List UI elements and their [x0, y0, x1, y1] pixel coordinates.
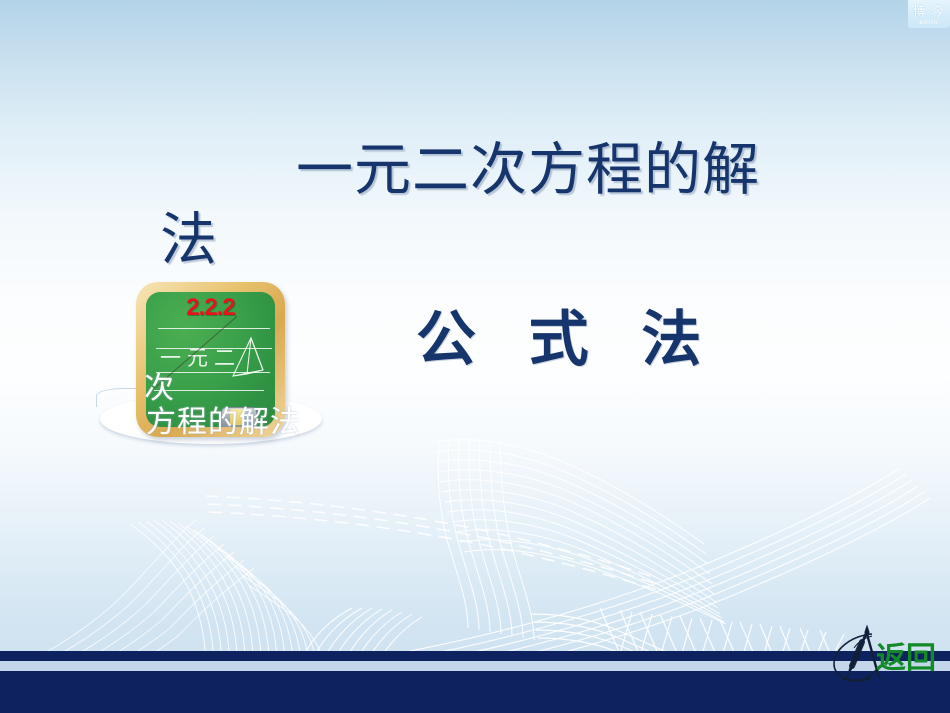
- page-title-line-1: 一元二次方程的解: [296, 142, 760, 199]
- return-button-label: 返回: [876, 644, 936, 674]
- footer-band-navy-upper: [0, 651, 950, 661]
- page-title-line-2: 法: [160, 212, 218, 269]
- pyramid-shape-icon: [227, 336, 269, 382]
- return-button[interactable]: 返回: [828, 624, 940, 688]
- page-subtitle: 公 式 法: [416, 310, 719, 370]
- watermark-logo-subtext: BOJIN: [908, 21, 950, 26]
- chalk-line: [158, 328, 270, 329]
- overlay-text-line-1: 次: [144, 374, 174, 404]
- watermark-logo-text: 博 今: [908, 1, 950, 20]
- presentation-slide: 博 今 BOJIN 一元二次方程的解 法 公 式 法 2.2.2 一元二: [0, 0, 950, 713]
- footer-band-light: [0, 661, 950, 671]
- watermark-logo: 博 今 BOJIN: [908, 0, 950, 28]
- footer-band-navy-main: [0, 671, 950, 713]
- overlay-text-line-2: 方程的解法: [146, 408, 301, 438]
- chalkboard-section-number: 2.2.2: [146, 294, 275, 322]
